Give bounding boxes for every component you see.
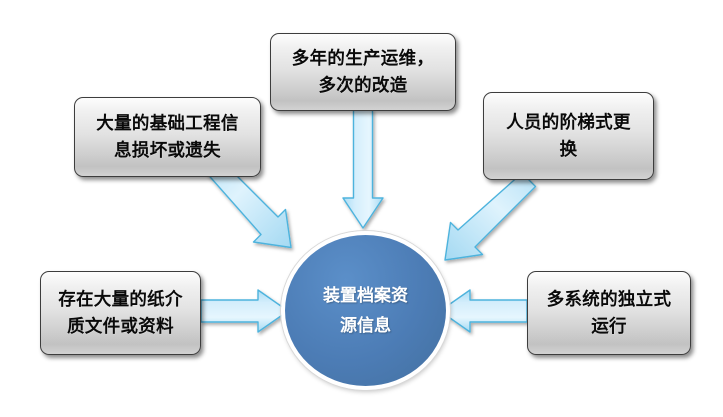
node-box-bottom-right[interactable]: 多系统的独立式 运行: [527, 271, 691, 355]
node-box-top-left[interactable]: 大量的基础工程信 息损坏或遗失: [74, 97, 261, 177]
center-node-ellipse[interactable]: 装置档案资 源信息: [281, 231, 450, 390]
node-box-top[interactable]: 多年的生产运维， 多次的改造: [270, 33, 456, 111]
node-box-top-right[interactable]: 人员的阶梯式更 换: [483, 92, 654, 180]
center-node-label: 装置档案资 源信息: [323, 281, 408, 341]
node-box-bottom-left[interactable]: 存在大量的纸介 质文件或资料: [40, 271, 201, 355]
arrow-from-bottom-left: [201, 290, 288, 332]
node-label-top-left: 大量的基础工程信 息损坏或遗失: [90, 110, 244, 164]
node-label-top-right: 人员的阶梯式更 换: [500, 109, 637, 163]
arrow-from-bottom-right: [440, 290, 527, 332]
node-label-bottom-left: 存在大量的纸介 质文件或资料: [52, 286, 189, 340]
arrow-from-top-right: [445, 173, 536, 260]
diagram-canvas: 多年的生产运维， 多次的改造 大量的基础工程信 息损坏或遗失 人员的阶梯式更 换…: [0, 0, 723, 417]
arrow-from-top: [343, 110, 383, 228]
node-label-bottom-right: 多系统的独立式 运行: [541, 286, 678, 340]
node-label-top: 多年的生产运维， 多次的改造: [286, 45, 440, 99]
